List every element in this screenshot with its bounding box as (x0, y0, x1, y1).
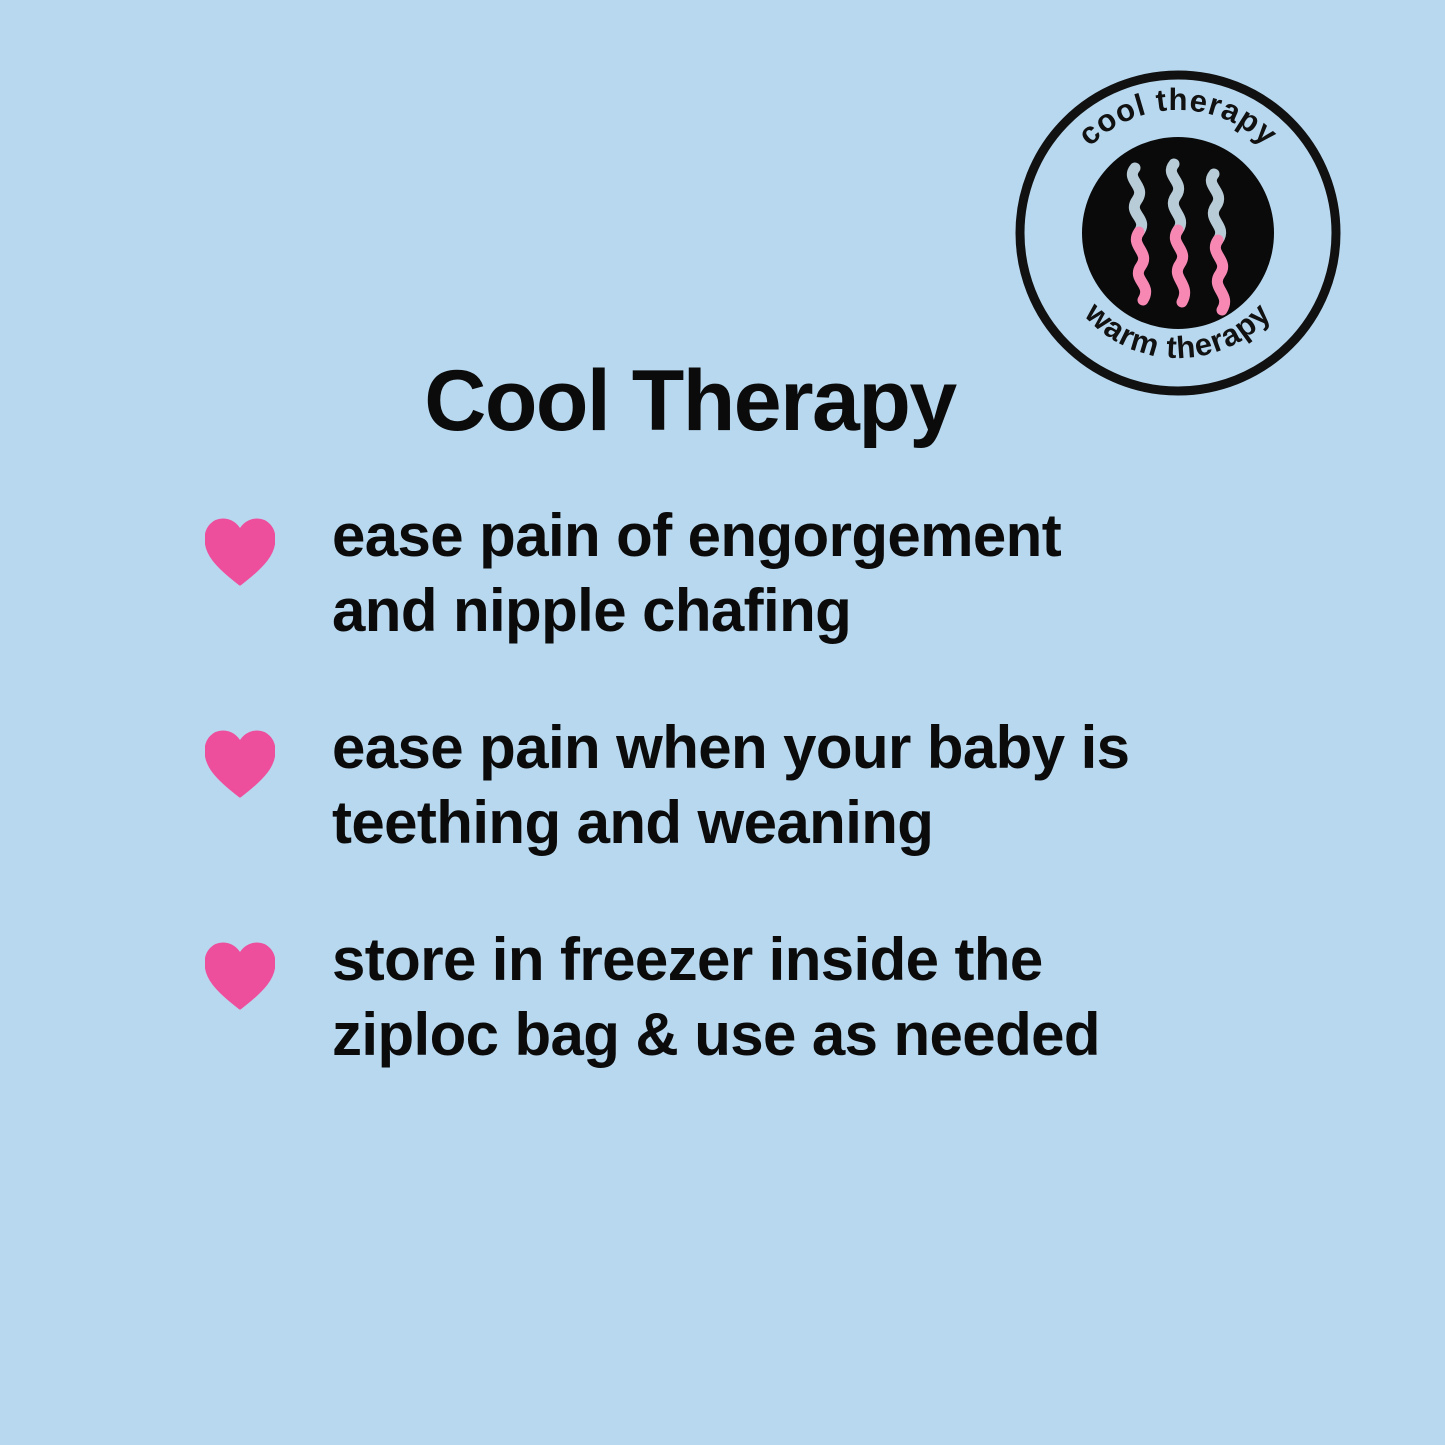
list-item: store in freezer inside the ziploc bag &… (205, 922, 1265, 1072)
heart-icon (205, 942, 275, 1010)
benefit-line: ease pain when your baby is (332, 710, 1265, 785)
benefit-line: store in freezer inside the (332, 922, 1265, 997)
benefit-text: ease pain of engorgement and nipple chaf… (332, 498, 1265, 648)
benefit-line: ziploc bag & use as needed (332, 997, 1265, 1072)
benefit-line: ease pain of engorgement (332, 498, 1265, 573)
list-item: ease pain when your baby is teething and… (205, 710, 1265, 860)
cool-warm-therapy-badge: cool therapy warm therapy (1013, 68, 1343, 398)
benefit-text: store in freezer inside the ziploc bag &… (332, 922, 1265, 1072)
list-item: ease pain of engorgement and nipple chaf… (205, 498, 1265, 648)
page-title: Cool Therapy (0, 358, 1380, 444)
product-info-card: cool therapy warm therapy Cool Therapy e… (0, 0, 1445, 1445)
benefits-list: ease pain of engorgement and nipple chaf… (205, 498, 1265, 1072)
benefit-line: teething and weaning (332, 785, 1265, 860)
benefit-line: and nipple chafing (332, 573, 1265, 648)
heart-icon (205, 730, 275, 798)
heart-icon (205, 518, 275, 586)
benefit-text: ease pain when your baby is teething and… (332, 710, 1265, 860)
